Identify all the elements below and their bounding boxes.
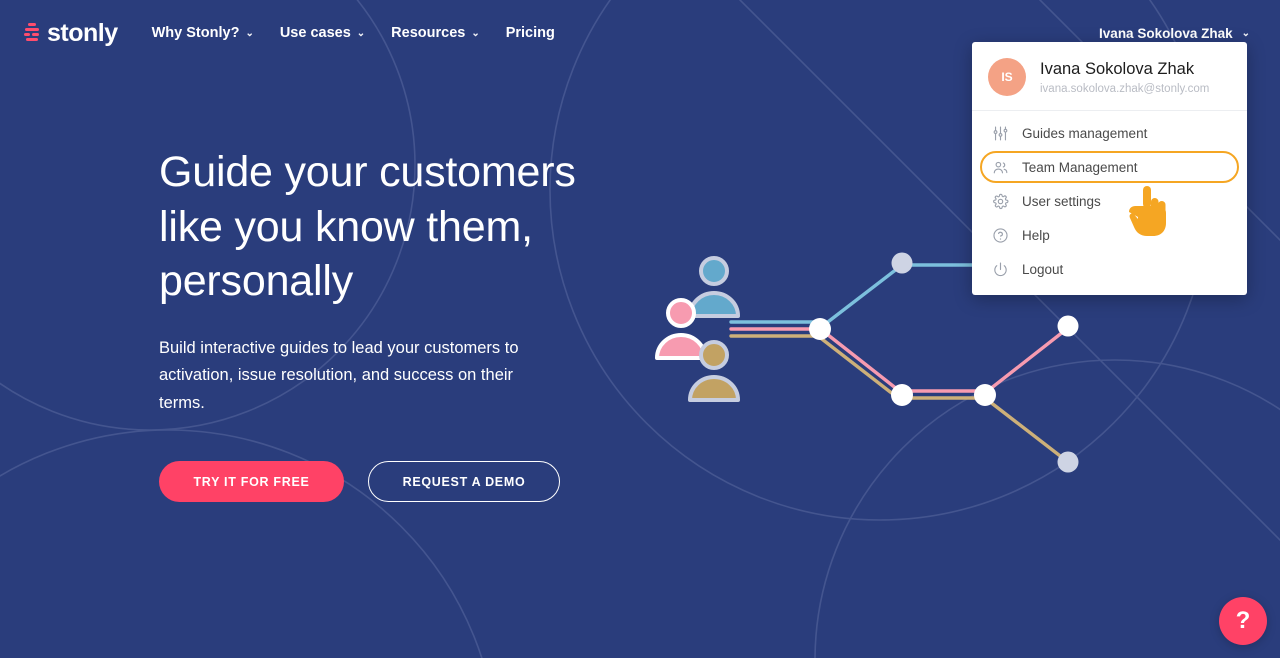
nav-link-resources[interactable]: Resources ⌄ (391, 25, 480, 41)
dropdown-user-header: IS Ivana Sokolova Zhak ivana.sokolova.zh… (972, 42, 1247, 110)
dropdown-user-name: Ivana Sokolova Zhak (1040, 59, 1209, 80)
cta-row: TRY IT FOR FREE REQUEST A DEMO (159, 461, 679, 502)
stonly-logo-icon (24, 23, 40, 43)
menu-item-user-settings[interactable]: User settings (980, 185, 1239, 217)
path-pink-down (823, 331, 902, 393)
page-root: stonly Why Stonly? ⌄ Use cases ⌄ Resourc… (0, 0, 1280, 658)
brand-name: stonly (47, 19, 118, 48)
heading-line-1: Guide your customers (159, 148, 576, 196)
brand-logo[interactable]: stonly (24, 19, 118, 48)
node-e (1058, 316, 1079, 337)
menu-item-label: Guides management (1022, 126, 1147, 141)
hero-subtitle: Build interactive guides to lead your cu… (159, 335, 531, 418)
chevron-down-icon: ⌄ (1242, 28, 1250, 39)
help-floating-button[interactable]: ? (1219, 597, 1267, 645)
menu-item-label: User settings (1022, 194, 1101, 209)
nav-link-label: Why Stonly? (152, 25, 240, 41)
dropdown-user-email: ivana.sokolova.zhak@stonly.com (1040, 83, 1209, 95)
chevron-down-icon: ⌄ (471, 28, 479, 39)
menu-item-label: Help (1022, 228, 1050, 243)
path-tan-down (818, 336, 898, 398)
account-dropdown-menu: IS Ivana Sokolova Zhak ivana.sokolova.zh… (972, 42, 1247, 295)
request-a-demo-button[interactable]: REQUEST A DEMO (368, 461, 560, 502)
nav-link-label: Resources (391, 25, 465, 41)
node-d (974, 384, 996, 406)
node-b (809, 318, 831, 340)
gear-icon (992, 193, 1009, 210)
nav-link-pricing[interactable]: Pricing (506, 25, 555, 41)
dropdown-divider (972, 110, 1247, 111)
avatar: IS (988, 58, 1026, 96)
chevron-down-icon: ⌄ (245, 28, 253, 39)
nav-link-use-cases[interactable]: Use cases ⌄ (280, 25, 365, 41)
node-c (891, 384, 913, 406)
path-tan-end (985, 398, 1068, 462)
heading-line-3: personally (159, 257, 353, 305)
menu-item-label: Team Management (1022, 160, 1138, 175)
node-a (892, 253, 913, 274)
node-f (1058, 452, 1079, 473)
page-title: Guide your customers like you know them,… (159, 145, 679, 309)
menu-item-team-management[interactable]: Team Management (980, 151, 1239, 183)
power-icon (992, 261, 1009, 278)
menu-item-label: Logout (1022, 262, 1063, 277)
nav-link-label: Use cases (280, 25, 351, 41)
path-pink-end (985, 328, 1068, 393)
menu-item-help[interactable]: Help (980, 219, 1239, 251)
menu-item-logout[interactable]: Logout (980, 253, 1239, 285)
chevron-down-icon: ⌄ (357, 28, 365, 39)
user-group-icon (992, 159, 1009, 176)
question-circle-icon (992, 227, 1009, 244)
menu-item-guides-management[interactable]: Guides management (980, 117, 1239, 149)
nav-link-label: Pricing (506, 25, 555, 41)
sliders-icon (992, 125, 1009, 142)
nav-links: Why Stonly? ⌄ Use cases ⌄ Resources ⌄ Pr… (152, 25, 555, 41)
try-it-for-free-button[interactable]: TRY IT FOR FREE (159, 461, 344, 502)
heading-line-2: like you know them, (159, 203, 533, 251)
hero-section: Guide your customers like you know them,… (159, 145, 679, 502)
user-menu-trigger-label: Ivana Sokolova Zhak (1099, 26, 1233, 41)
nav-link-why-stonly[interactable]: Why Stonly? ⌄ (152, 25, 254, 41)
person-blue (690, 258, 738, 316)
user-menu-trigger[interactable]: Ivana Sokolova Zhak ⌄ (1099, 26, 1256, 41)
path-blue-up (820, 265, 902, 328)
